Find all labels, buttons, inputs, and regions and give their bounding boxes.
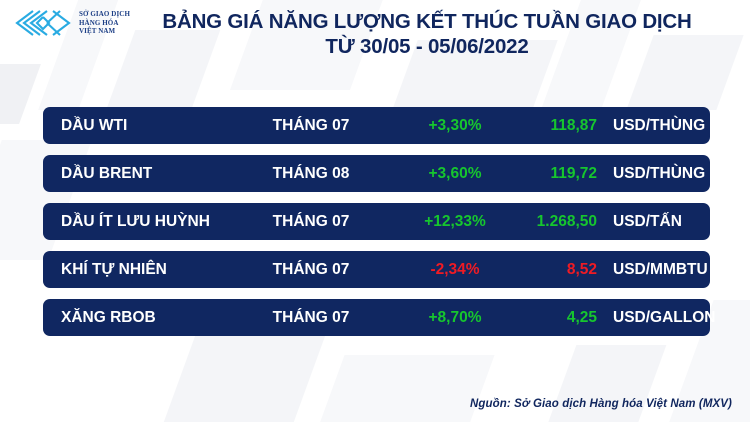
background-watermark-shape: [544, 345, 667, 422]
price-unit: USD/THÙNG: [613, 107, 705, 144]
header: SỞ GIAO DỊCH HÀNG HÓA VIỆT NAM BẢNG GIÁ …: [0, 0, 750, 72]
source-note: Nguồn: Sở Giao dịch Hàng hóa Việt Nam (M…: [470, 398, 732, 410]
price-table: DẦU WTITHÁNG 07+3,30%118,87USD/THÙNGDẦU …: [43, 107, 710, 347]
table-row: KHÍ TỰ NHIÊNTHÁNG 07-2,34%8,52USD/MMBTU: [43, 251, 710, 288]
background-watermark-shape: [0, 64, 41, 124]
commodity-name: XĂNG RBOB: [61, 299, 156, 336]
price-unit: USD/TẤN: [613, 203, 682, 240]
table-row: DẦU BRENTTHÁNG 08+3,60%119,72USD/THÙNG: [43, 155, 710, 192]
commodity-name: DẦU ÍT LƯU HUỲNH: [61, 203, 210, 240]
price-value: 8,52: [473, 251, 597, 288]
commodity-name: KHÍ TỰ NHIÊN: [61, 251, 167, 288]
background-watermark-shape: [315, 355, 494, 422]
energy-price-board: SỞ GIAO DỊCH HÀNG HÓA VIỆT NAM BẢNG GIÁ …: [0, 0, 750, 422]
price-unit: USD/GALLON: [613, 299, 715, 336]
contract-month: THÁNG 07: [251, 107, 371, 144]
price-value: 119,72: [473, 155, 597, 192]
price-value: 118,87: [473, 107, 597, 144]
mxv-chevron-logo-icon: [12, 8, 74, 38]
table-row: DẦU WTITHÁNG 07+3,30%118,87USD/THÙNG: [43, 107, 710, 144]
price-unit: USD/MMBTU: [613, 251, 708, 288]
title-line-2: TỪ 30/05 - 05/06/2022: [112, 34, 742, 59]
page-title: BẢNG GIÁ NĂNG LƯỢNG KẾT THÚC TUẦN GIAO D…: [112, 9, 742, 59]
commodity-name: DẦU BRENT: [61, 155, 152, 192]
price-unit: USD/THÙNG: [613, 155, 705, 192]
contract-month: THÁNG 07: [251, 299, 371, 336]
contract-month: THÁNG 07: [251, 251, 371, 288]
contract-month: THÁNG 07: [251, 203, 371, 240]
table-row: XĂNG RBOBTHÁNG 07+8,70%4,25USD/GALLON: [43, 299, 710, 336]
commodity-name: DẦU WTI: [61, 107, 127, 144]
price-value: 4,25: [473, 299, 597, 336]
table-row: DẦU ÍT LƯU HUỲNHTHÁNG 07+12,33%1.268,50U…: [43, 203, 710, 240]
price-value: 1.268,50: [473, 203, 597, 240]
contract-month: THÁNG 08: [251, 155, 371, 192]
title-line-1: BẢNG GIÁ NĂNG LƯỢNG KẾT THÚC TUẦN GIAO D…: [112, 9, 742, 34]
